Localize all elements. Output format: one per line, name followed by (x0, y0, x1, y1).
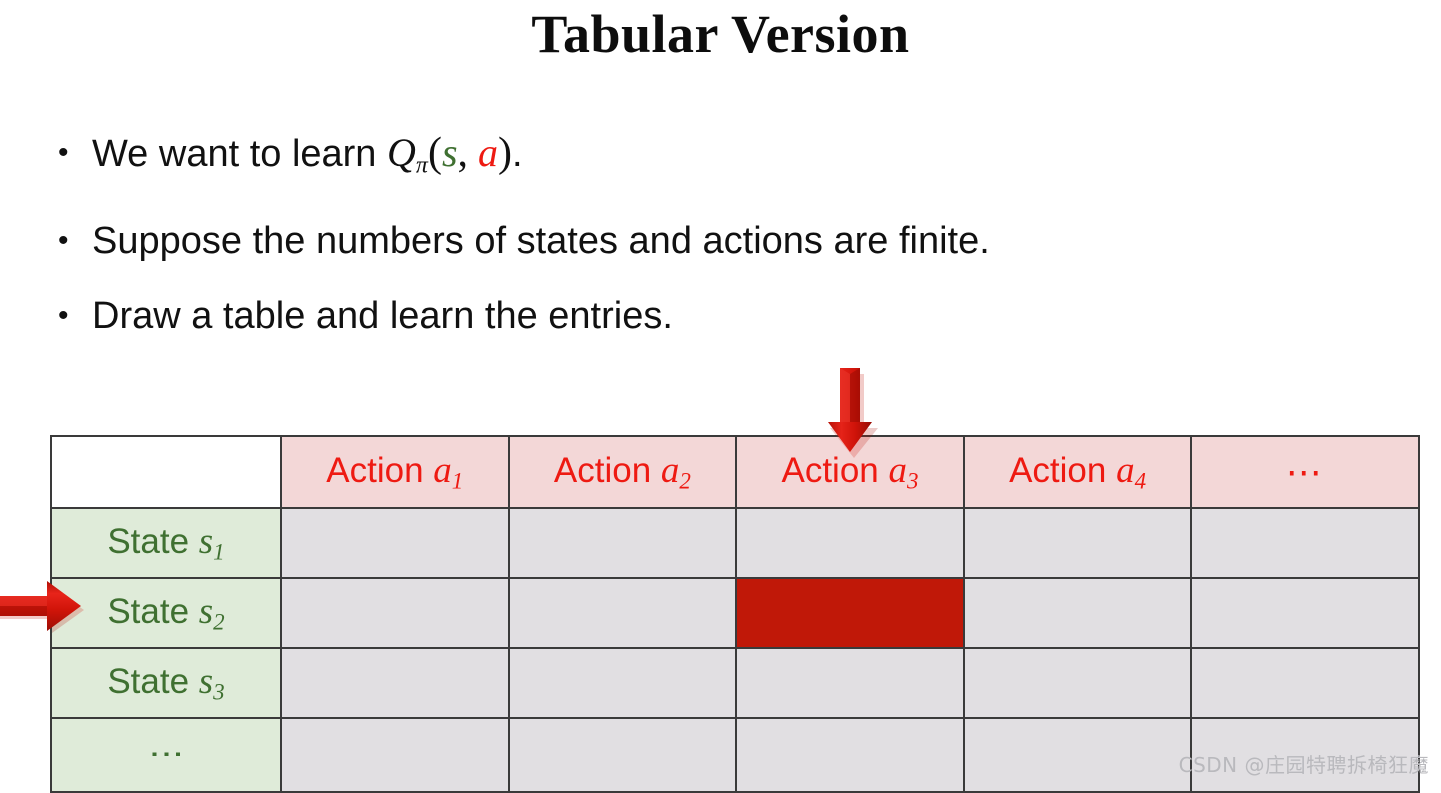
q-cell-s3-more[interactable] (1191, 648, 1419, 718)
column-header-a2-prefix: Action (554, 451, 661, 490)
vertical-ellipsis-icon: ⋮ (151, 718, 182, 792)
q-cell-s1-more[interactable] (1191, 508, 1419, 578)
column-header-a3-symbol: a3 (888, 450, 918, 491)
bullet-item-finite-counts: • Suppose the numbers of states and acti… (58, 216, 1378, 266)
column-header-a1[interactable]: Action a1 (281, 436, 509, 508)
row-header-more: ⋮ (51, 718, 281, 792)
q-cell-s3-a1[interactable] (281, 648, 509, 718)
q-cell-s3-a2[interactable] (509, 648, 737, 718)
row-pointer-arrow-icon (0, 575, 87, 637)
q-cell-s2-a2[interactable] (509, 578, 737, 648)
q-cell-s2-more[interactable] (1191, 578, 1419, 648)
bullet-prefix-text: We want to learn (92, 133, 387, 175)
q-cell-s1-a2[interactable] (509, 508, 737, 578)
formula-arg-action: a (478, 130, 498, 175)
q-cell-more-a2[interactable] (509, 718, 737, 792)
table-row: State s1 (51, 508, 1419, 578)
bullet-text-draw-table: Draw a table and learn the entries. (92, 291, 1378, 341)
row-header-s3[interactable]: State s3 (51, 648, 281, 718)
bullet-text-finite-counts: Suppose the numbers of states and action… (92, 216, 1378, 266)
symbol-base: a (1116, 450, 1135, 491)
bullet-item-learn-q: • We want to learn Qπ(s, a). (58, 128, 1378, 191)
symbol-subscript: 1 (213, 540, 225, 565)
formula-fn: Q (387, 130, 416, 175)
watermark-text: CSDN @庄园特聘拆椅狂魔 (1179, 749, 1429, 778)
bullet-marker-icon: • (58, 216, 92, 266)
bullet-list: • We want to learn Qπ(s, a). • Suppose t… (58, 128, 1378, 366)
q-cell-s2-a3-highlighted[interactable] (736, 578, 964, 648)
arrow-bevel-light (0, 596, 47, 606)
symbol-base: a (888, 450, 907, 491)
row-header-s1-symbol: s1 (199, 521, 225, 562)
row-header-s2-symbol: s2 (199, 591, 225, 632)
arrow-bevel-dark (850, 368, 860, 422)
symbol-base: s (199, 591, 213, 632)
symbol-subscript: 1 (452, 469, 464, 494)
symbol-base: a (433, 450, 452, 491)
formula-open-paren: ( (428, 130, 442, 176)
column-header-a2-symbol: a2 (661, 450, 691, 491)
row-header-s3-prefix: State (107, 662, 198, 701)
page-title: Tabular Version (0, 2, 1441, 66)
symbol-subscript: 2 (679, 469, 691, 494)
q-cell-s1-a4[interactable] (964, 508, 1192, 578)
q-function-formula: Qπ(s, a) (387, 130, 512, 175)
formula-subscript-pi: π (416, 153, 428, 179)
q-cell-s1-a1[interactable] (281, 508, 509, 578)
column-pointer-arrow-icon (818, 362, 882, 460)
symbol-subscript: 3 (213, 680, 225, 705)
row-header-s2-prefix: State (107, 592, 198, 631)
column-header-more: ⋯ (1191, 436, 1419, 508)
row-header-s1[interactable]: State s1 (51, 508, 281, 578)
formula-close-paren: ) (498, 130, 512, 176)
q-cell-s2-a4[interactable] (964, 578, 1192, 648)
table-row: State s2 (51, 578, 1419, 648)
row-header-s3-symbol: s3 (199, 661, 225, 702)
q-cell-more-a4[interactable] (964, 718, 1192, 792)
q-cell-s3-a4[interactable] (964, 648, 1192, 718)
symbol-subscript: 3 (907, 469, 919, 494)
symbol-subscript: 4 (1135, 469, 1147, 494)
formula-arg-state: s (442, 130, 458, 175)
column-header-a1-prefix: Action (326, 451, 433, 490)
q-cell-more-a1[interactable] (281, 718, 509, 792)
q-cell-s3-a3[interactable] (736, 648, 964, 718)
column-header-a4[interactable]: Action a4 (964, 436, 1192, 508)
symbol-base: s (199, 521, 213, 562)
bullet-suffix-text: . (512, 133, 523, 175)
symbol-subscript: 2 (213, 610, 225, 635)
column-header-a4-symbol: a4 (1116, 450, 1146, 491)
bullet-marker-icon: • (58, 128, 92, 178)
symbol-base: a (661, 450, 680, 491)
arrow-bevel-light (840, 368, 850, 422)
q-cell-more-a3[interactable] (736, 718, 964, 792)
table-header-row: Action a1 Action a2 Action a3 Action a4 … (51, 436, 1419, 508)
column-header-a2[interactable]: Action a2 (509, 436, 737, 508)
q-cell-s2-a1[interactable] (281, 578, 509, 648)
column-header-a4-prefix: Action (1009, 451, 1116, 490)
formula-separator: , (458, 130, 469, 176)
q-cell-s1-a3[interactable] (736, 508, 964, 578)
bullet-item-draw-table: • Draw a table and learn the entries. (58, 291, 1378, 341)
table-row: State s3 (51, 648, 1419, 718)
bullet-marker-icon: • (58, 291, 92, 341)
arrow-bevel-dark (0, 606, 47, 616)
symbol-base: s (199, 661, 213, 702)
q-value-table: Action a1 Action a2 Action a3 Action a4 … (50, 435, 1420, 793)
bullet-text-learn-q: We want to learn Qπ(s, a). (92, 128, 1378, 191)
table-corner-cell (51, 436, 281, 508)
column-header-a1-symbol: a1 (433, 450, 463, 491)
row-header-s1-prefix: State (107, 522, 198, 561)
